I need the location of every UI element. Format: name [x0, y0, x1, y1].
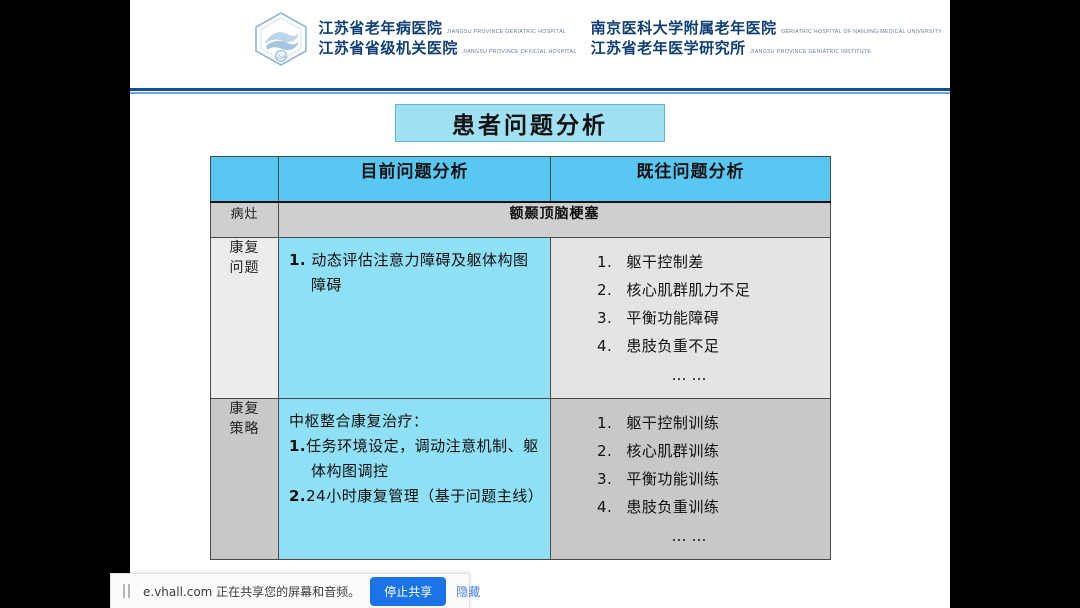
stop-sharing-button[interactable]: 停止共享 — [370, 577, 446, 606]
header-divider-light — [130, 92, 950, 94]
current-problem-item-1-black: 动态评估 — [311, 251, 373, 269]
list-item: 3. 平衡功能障碍 — [561, 304, 822, 332]
hospital-name-cn-1: 江苏省老年病医院 — [318, 20, 442, 37]
previous-problem-item-1-number: 1. — [597, 248, 612, 276]
list-item: 1. 躯干控制差 — [561, 248, 822, 276]
previous-strategy-item-4-text: 患肢负重训练 — [626, 493, 822, 521]
screen-share-bar: e.vhall.com 正在共享您的屏幕和音频。 停止共享 隐藏 — [110, 573, 470, 608]
cell-current-rehab-problem: 1. 动态评估注意力障碍及躯体构图障碍 — [279, 238, 551, 399]
lesion-merged-cell: 额颞顶脑梗塞 — [279, 202, 831, 238]
row-label-line-1: 康复 — [211, 399, 278, 419]
hospital-logo-block: JSA 江苏省老年病医院 JIANGSU PROVINCE GERIATRIC … — [252, 10, 942, 68]
header-divider-dark — [130, 88, 950, 91]
current-strategy-item-2: 2.24小时康复管理（基于问题主线） — [289, 484, 542, 509]
hospital-name-cn-4: 江苏省老年医学研究所 — [591, 40, 746, 57]
previous-problem-item-4-text: 患肢负重不足 — [626, 332, 822, 360]
current-problem-item-1-number: 1. — [289, 251, 306, 269]
patient-problem-table: 目前问题分析 既往问题分析 病灶 额颞顶脑梗塞 康复 问题 1. 动 — [210, 156, 831, 560]
hospital-name-en-4: JIANGSU PROVINCE GERIATRIC INSTITUTE — [750, 49, 871, 55]
slide-header: JSA 江苏省老年病医院 JIANGSU PROVINCE GERIATRIC … — [130, 0, 950, 88]
svg-text:JSA: JSA — [277, 54, 287, 60]
current-problem-item-1: 1. 动态评估注意力障碍及躯体构图障碍 — [289, 248, 542, 298]
hospital-emblem-icon: JSA — [252, 10, 310, 68]
previous-strategy-ellipsis: …… — [561, 521, 822, 545]
slide-title-banner: 患者问题分析 — [395, 104, 665, 142]
previous-strategy-item-2-number: 2. — [597, 437, 612, 465]
current-strategy-item-2-number: 2. — [289, 487, 306, 505]
table-row-rehab-problem: 康复 问题 1. 动态评估注意力障碍及躯体构图障碍 1. 躯 — [211, 238, 831, 399]
hospital-name-en-3: JIANGSU PROVINCE OFFICIAL HOSPITAL — [462, 49, 576, 55]
hospital-name-en-2: GERIATRIC HOSPITAL OF NANJING MEDICAL UN… — [781, 29, 942, 35]
current-strategy-lead: 中枢整合康复治疗： — [289, 409, 542, 434]
list-item: 4. 患肢负重不足 — [561, 332, 822, 360]
list-item: 1. 躯干控制训练 — [561, 409, 822, 437]
hospital-name-4: 江苏省老年医学研究所 JIANGSU PROVINCE GERIATRIC IN… — [591, 40, 942, 58]
cell-current-rehab-strategy: 中枢整合康复治疗： 1.任务环境设定，调动注意机制、躯体构图调控 2.24小时康… — [279, 399, 551, 560]
hospital-name-cn-2: 南京医科大学附属老年医院 — [591, 20, 777, 37]
previous-problem-list: 1. 躯干控制差 2. 核心肌群肌力不足 3. 平衡功能障碍 — [561, 248, 822, 360]
table-header-current: 目前问题分析 — [279, 157, 551, 202]
drag-handle-icon[interactable] — [123, 584, 133, 598]
table-row-lesion: 病灶 额颞顶脑梗塞 — [211, 202, 831, 238]
screen-capture-frame: JSA 江苏省老年病医院 JIANGSU PROVINCE GERIATRIC … — [0, 0, 1080, 608]
previous-strategy-list: 1. 躯干控制训练 2. 核心肌群训练 3. 平衡功能训练 — [561, 409, 822, 521]
slide-title: 患者问题分析 — [452, 106, 608, 140]
previous-strategy-item-2-text: 核心肌群训练 — [626, 437, 822, 465]
hospital-name-3: 江苏省省级机关医院 JIANGSU PROVINCE OFFICIAL HOSP… — [318, 40, 576, 58]
row-label-line-1: 康复 — [211, 238, 278, 258]
cell-previous-rehab-strategy: 1. 躯干控制训练 2. 核心肌群训练 3. 平衡功能训练 — [551, 399, 831, 560]
previous-problem-item-3-text: 平衡功能障碍 — [626, 304, 822, 332]
table-row-rehab-strategy: 康复 策略 中枢整合康复治疗： 1.任务环境设定，调动注意机制、躯体构图调控 2… — [211, 399, 831, 560]
current-strategy-item-2-text: 24小时康复管理（基于问题主线） — [306, 487, 543, 505]
hide-bar-link[interactable]: 隐藏 — [456, 583, 480, 600]
hospital-name-2: 南京医科大学附属老年医院 GERIATRIC HOSPITAL OF NANJI… — [591, 20, 942, 38]
current-strategy-item-1: 1.任务环境设定，调动注意机制、躯体构图调控 — [289, 434, 542, 484]
previous-problem-item-2-number: 2. — [597, 276, 612, 304]
current-strategy-item-1-text: 任务环境设定，调动注意机制、躯体构图调控 — [306, 437, 539, 480]
previous-problem-item-1-text: 躯干控制差 — [626, 248, 822, 276]
list-item: 4. 患肢负重训练 — [561, 493, 822, 521]
hospital-name-grid: 江苏省老年病医院 JIANGSU PROVINCE GERIATRIC HOSP… — [318, 20, 942, 58]
current-strategy-item-1-number: 1. — [289, 437, 306, 455]
previous-strategy-item-4-number: 4. — [597, 493, 612, 521]
list-item: 3. 平衡功能训练 — [561, 465, 822, 493]
table-header-previous: 既往问题分析 — [551, 157, 831, 202]
previous-strategy-item-3-number: 3. — [597, 465, 612, 493]
table-header-row: 目前问题分析 既往问题分析 — [211, 157, 831, 202]
list-item: 2. 核心肌群训练 — [561, 437, 822, 465]
previous-problem-item-2-text: 核心肌群肌力不足 — [626, 276, 822, 304]
table-header-corner — [211, 157, 279, 202]
row-label-lesion: 病灶 — [211, 202, 279, 238]
previous-strategy-item-3-text: 平衡功能训练 — [626, 465, 822, 493]
share-status-message: e.vhall.com 正在共享您的屏幕和音频。 — [143, 583, 360, 600]
hospital-name-en-1: JIANGSU PROVINCE GERIATRIC HOSPITAL — [447, 29, 566, 35]
previous-problem-ellipsis: …… — [561, 360, 822, 384]
list-item: 2. 核心肌群肌力不足 — [561, 276, 822, 304]
row-label-line-2: 策略 — [211, 419, 278, 439]
row-label-line-2: 问题 — [211, 258, 278, 278]
previous-strategy-item-1-number: 1. — [597, 409, 612, 437]
cell-previous-rehab-problem: 1. 躯干控制差 2. 核心肌群肌力不足 3. 平衡功能障碍 — [551, 238, 831, 399]
row-label-rehab-strategy: 康复 策略 — [211, 399, 279, 560]
previous-problem-item-3-number: 3. — [597, 304, 612, 332]
presentation-slide: JSA 江苏省老年病医院 JIANGSU PROVINCE GERIATRIC … — [130, 0, 950, 608]
previous-problem-item-4-number: 4. — [597, 332, 612, 360]
previous-strategy-item-1-text: 躯干控制训练 — [626, 409, 822, 437]
row-label-rehab-problem: 康复 问题 — [211, 238, 279, 399]
hospital-name-cn-3: 江苏省省级机关医院 — [318, 40, 458, 57]
hospital-name-1: 江苏省老年病医院 JIANGSU PROVINCE GERIATRIC HOSP… — [318, 20, 576, 38]
